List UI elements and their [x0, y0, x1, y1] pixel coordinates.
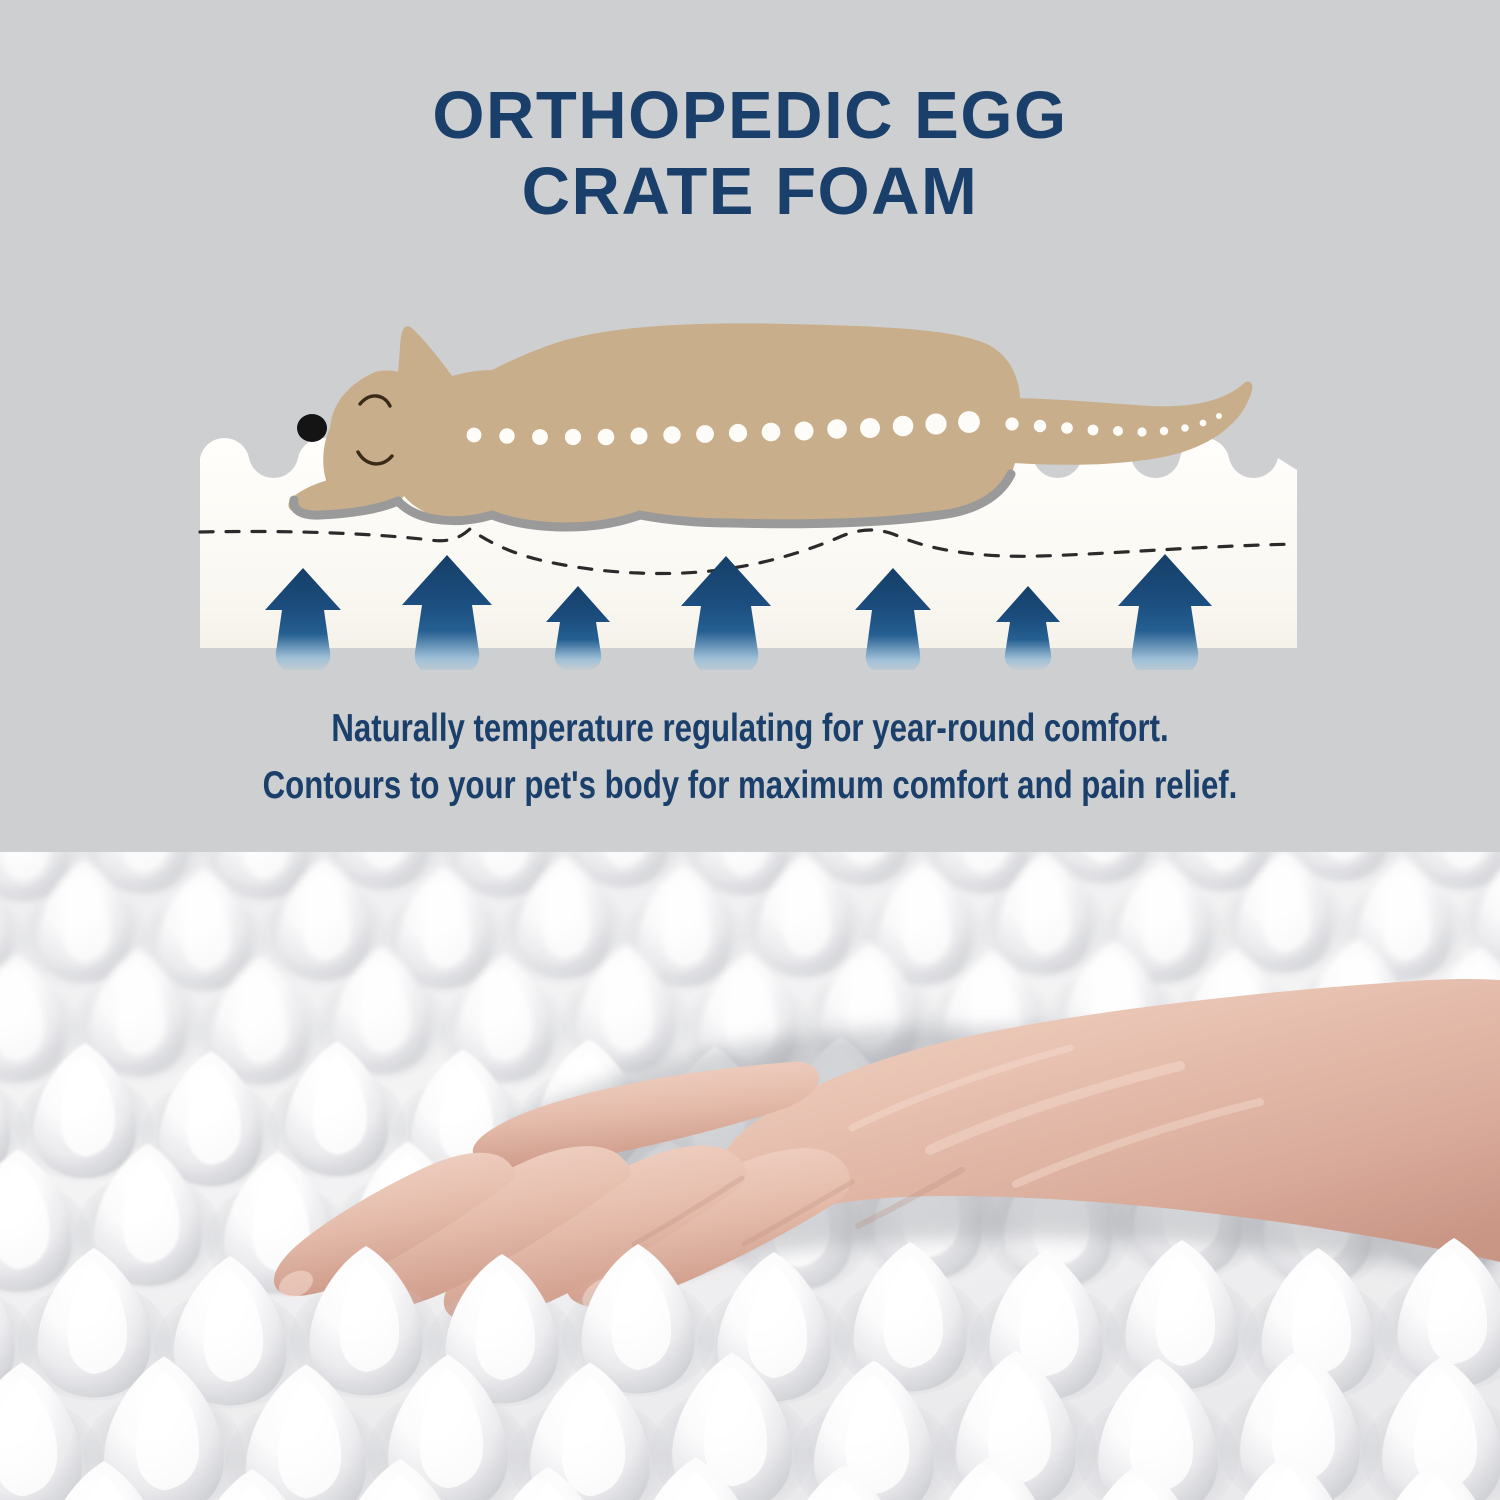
foam-support-illustration	[0, 300, 1500, 670]
subtitle-text: Naturally temperature regulating for yea…	[150, 700, 1350, 814]
page-title-line-2: CRATE FOAM	[0, 154, 1500, 230]
dog-body	[323, 323, 1020, 526]
page-title-line-1: ORTHOPEDIC EGG	[0, 78, 1500, 154]
top-info-panel: ORTHOPEDIC EGG CRATE FOAM	[0, 0, 1500, 852]
subtitle-line-1: Naturally temperature regulating for yea…	[150, 700, 1350, 757]
subtitle-line-2: Contours to your pet's body for maximum …	[150, 757, 1350, 814]
page-title: ORTHOPEDIC EGG CRATE FOAM	[0, 78, 1500, 230]
dog-nose	[297, 414, 327, 442]
infographic-page: ORTHOPEDIC EGG CRATE FOAM	[0, 0, 1500, 1500]
foam-photo	[0, 852, 1500, 1500]
